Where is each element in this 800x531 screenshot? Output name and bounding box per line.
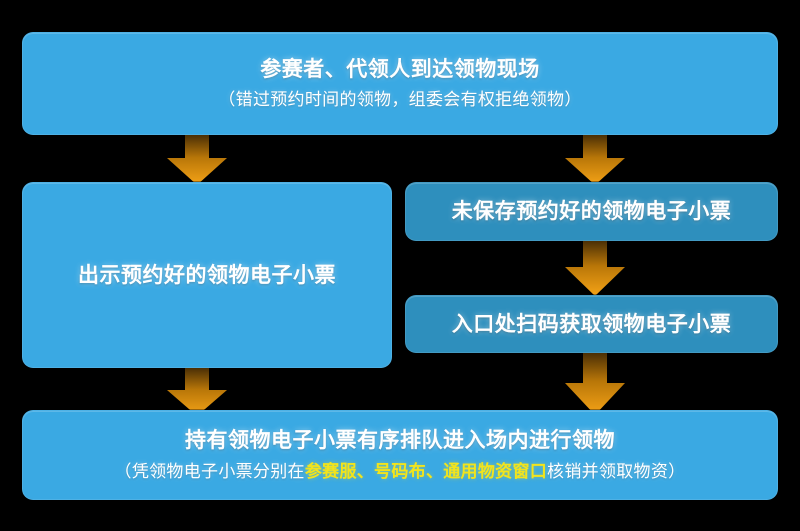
flow-node-start-subtitle: （错过预约时间的领物，组委会有权拒绝领物） <box>218 89 581 111</box>
arrow-right-branch-1-to-2-icon <box>561 241 629 296</box>
flow-node-left-branch-title: 出示预约好的领物电子小票 <box>78 262 336 289</box>
flow-node-right-branch-2-title: 入口处扫码获取领物电子小票 <box>452 311 732 338</box>
flow-node-end-subtitle-prefix: （凭领物电子小票分别在 <box>115 462 305 482</box>
flow-node-end-subtitle: （凭领物电子小票分别在参赛服、号码布、通用物资窗口核销并领取物资） <box>115 461 686 483</box>
flow-node-end-subtitle-highlight: 参赛服、号码布、通用物资窗口 <box>305 462 547 482</box>
flowchart-canvas: 参赛者、代领人到达领物现场 （错过预约时间的领物，组委会有权拒绝领物） 出示预约… <box>0 0 800 531</box>
flow-node-end-subtitle-suffix: 核销并领取物资） <box>547 462 685 482</box>
flow-node-end-title: 持有领物电子小票有序排队进入场内进行领物 <box>185 427 615 454</box>
arrow-start-to-left-branch-icon <box>163 135 231 185</box>
flow-node-right-branch-1-title: 未保存预约好的领物电子小票 <box>452 198 732 225</box>
arrow-start-to-right-branch-icon <box>561 135 629 185</box>
arrow-right-branch-2-to-end-icon <box>561 353 629 415</box>
arrow-left-branch-to-end-icon <box>163 368 231 416</box>
flow-node-right-branch-1[interactable]: 未保存预约好的领物电子小票 <box>405 182 778 241</box>
flow-node-right-branch-2[interactable]: 入口处扫码获取领物电子小票 <box>405 295 778 353</box>
flow-node-end[interactable]: 持有领物电子小票有序排队进入场内进行领物 （凭领物电子小票分别在参赛服、号码布、… <box>22 410 778 500</box>
flow-node-left-branch[interactable]: 出示预约好的领物电子小票 <box>22 182 392 368</box>
flow-node-start[interactable]: 参赛者、代领人到达领物现场 （错过预约时间的领物，组委会有权拒绝领物） <box>22 32 778 135</box>
flow-node-start-title: 参赛者、代领人到达领物现场 <box>260 56 540 83</box>
